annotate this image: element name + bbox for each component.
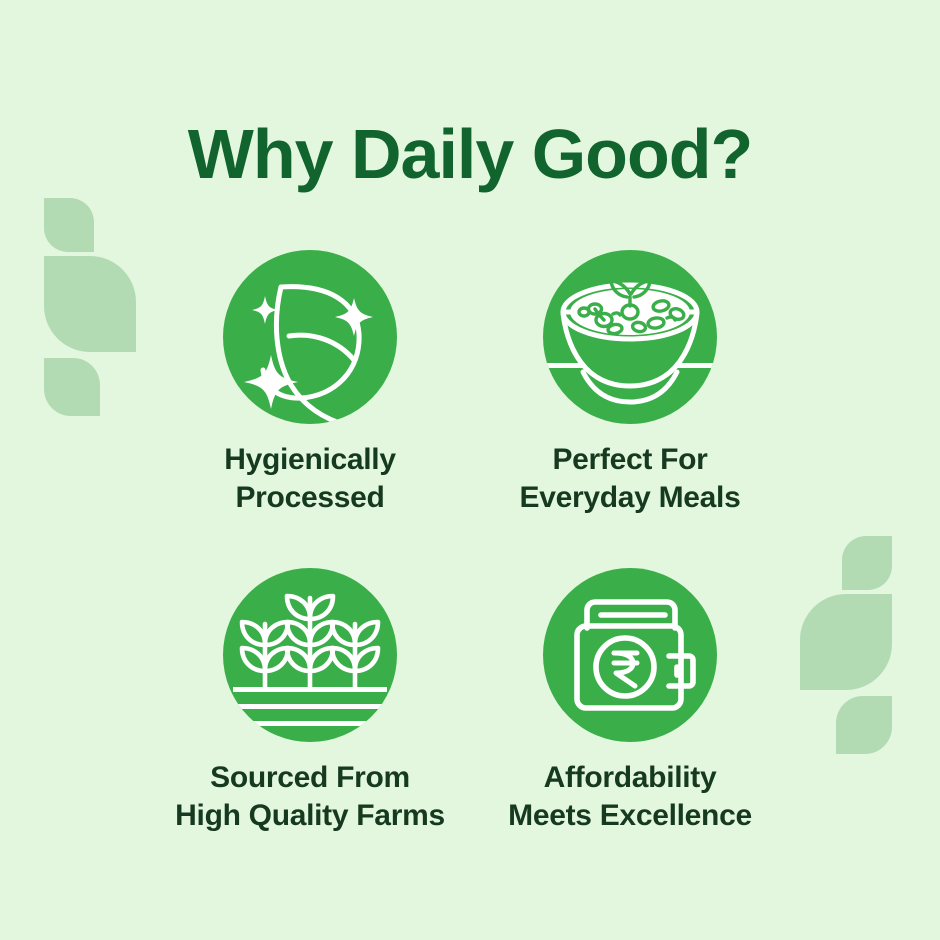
why-daily-good-poster: Why Daily Good? [0,0,940,940]
feature-item-everyday-meals: Perfect For Everyday Meals [470,250,790,518]
feature-item-hygienically-processed: Hygienically Processed [150,250,470,518]
leaf-shape-icon [44,198,94,252]
page-title: Why Daily Good? [0,119,940,189]
feature-item-high-quality-farms: Sourced From High Quality Farms [150,568,470,836]
feature-item-affordability: Affordability Meets Excellence [470,568,790,836]
feature-icon-badge [223,568,397,742]
feature-label: Affordability Meets Excellence [465,759,795,836]
crop-field-icon [223,568,397,742]
feature-icon-badge [543,568,717,742]
feature-icon-badge [543,250,717,424]
feature-label: Perfect For Everyday Meals [520,441,741,518]
soup-bowl-icon [543,250,717,424]
feature-icon-badge [223,250,397,424]
sparkle-icon [244,296,373,409]
feature-label: Hygienically Processed [224,441,395,518]
feature-label: Sourced From High Quality Farms [120,759,500,836]
sparkle-leaf-icon [223,250,397,424]
feature-grid: Hygienically Processed [0,250,940,836]
rupee-wallet-icon [543,568,717,742]
feature-row: Sourced From High Quality Farms [0,568,940,836]
feature-row: Hygienically Processed [0,250,940,518]
